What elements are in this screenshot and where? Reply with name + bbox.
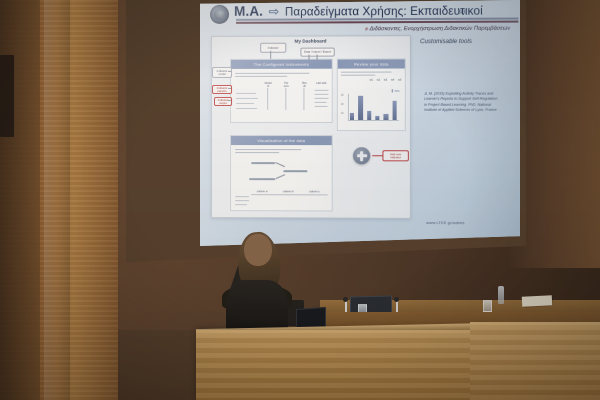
connector-line	[317, 55, 318, 60]
chart-legend-entry: w5	[397, 79, 403, 82]
slide-header: M.A. ⇨ Παραδείγματα Χρήσης: Εκπαιδευτικο…	[208, 1, 518, 33]
table-cell	[315, 94, 329, 95]
chart-bar	[392, 100, 397, 120]
panel-heading: Visualisation of the data	[231, 136, 332, 145]
projection-screen: M.A. ⇨ Παραδείγματα Χρήσης: Εκπαιδευτικο…	[200, 0, 520, 246]
connector-line	[276, 162, 285, 167]
table-cell	[235, 204, 247, 205]
coin-emblem-icon	[210, 5, 229, 24]
table-cell	[236, 108, 257, 109]
papers	[522, 295, 552, 307]
node-label	[251, 162, 275, 164]
connector-line	[372, 155, 382, 156]
chart-bar	[367, 111, 372, 120]
slide-title-rest: Παραδείγματα Χρήσης: Εκπαιδευτικοί	[285, 6, 483, 19]
chart-legend: ▌ data	[389, 90, 403, 93]
microphone-icon	[343, 297, 348, 302]
chart-y-axis	[348, 94, 349, 120]
panel-text-line	[235, 76, 287, 77]
connector-line	[308, 55, 309, 60]
callout-indicator-model: Indicator model	[212, 67, 232, 78]
chart-bar	[358, 96, 363, 120]
chart-bar	[350, 113, 355, 120]
table-column-header: Result	[297, 82, 311, 88]
panel-text-line	[341, 75, 375, 76]
node-label	[283, 170, 307, 172]
customisable-tools-heading: Customisable tools	[420, 39, 472, 45]
panel-text-line	[341, 72, 392, 73]
citation-text: Ji, M. (2015) Exploiting Activity Traces…	[424, 92, 500, 114]
callout-indicator-output: Indicator output	[214, 97, 232, 106]
table-cell	[236, 98, 258, 99]
panel-text-line	[235, 152, 279, 153]
table-cell	[315, 102, 327, 103]
podium	[196, 330, 496, 400]
panel-text-line	[235, 149, 301, 150]
chart-y-tick: 20	[341, 103, 344, 106]
subtitle-bullet-icon: ๏	[365, 26, 368, 32]
chart-legend-entry: w2	[375, 79, 381, 82]
panel-visualisation: Visualisation of the data column a colum…	[230, 135, 333, 212]
panel-heading: The Configured Instruments	[231, 60, 332, 69]
water-bottle	[498, 286, 504, 304]
connector-line	[228, 88, 231, 89]
title-rule-bottom	[236, 20, 518, 23]
table-cell	[315, 98, 329, 99]
panel-review-data: Review your data w1 w2 w3 w4 w5 30 20 10	[337, 58, 406, 131]
callout-indicator-parameters: Indicator params	[212, 85, 232, 94]
table-column-header: column a	[253, 190, 271, 193]
table-column-header: column c	[305, 190, 323, 193]
callout-data-import-export: Data / Import / Export	[300, 48, 334, 57]
slide-title-prefix: M.A.	[234, 4, 263, 19]
slide-subtitle: ๏ Διδάσκοντες, Ενορχήστρωση Διδακτικών Π…	[365, 25, 511, 34]
table-column-header: Params	[279, 82, 293, 88]
connector-line	[228, 71, 231, 72]
column-divider	[267, 88, 268, 110]
connector-line	[270, 51, 271, 59]
slide-title: M.A. ⇨ Παραδείγματα Χρήσης: Εκπαιδευτικο…	[234, 2, 483, 18]
column-divider	[285, 88, 286, 110]
connector-line	[228, 100, 231, 101]
column-divider	[303, 88, 304, 110]
table-cell	[235, 200, 249, 201]
water-glass	[483, 300, 492, 312]
table-column-header: column b	[279, 190, 297, 193]
chart-legend-entry: w3	[382, 79, 388, 82]
pillar	[44, 0, 70, 400]
table-column-header: Modelid	[261, 82, 275, 88]
callout-indicator: Indicator	[260, 43, 286, 53]
table-cell	[236, 103, 254, 104]
arrow-right-icon: ⇨	[267, 5, 282, 19]
table-cell	[315, 106, 328, 107]
table-column-header: Last upd.	[314, 82, 330, 85]
dashboard-card: My Dashboard The Configured Instruments …	[211, 35, 411, 219]
slide-subtitle-text: Διδάσκοντες, Ενορχήστρωση Διδακτικών Παρ…	[370, 26, 511, 33]
slide-page-indicator: 3/3	[458, 10, 465, 16]
plus-circle-icon[interactable]	[353, 147, 370, 164]
panel-text-line	[235, 73, 309, 74]
table-rule	[251, 194, 328, 195]
source-url: www.LTEE.gr/admts	[426, 220, 464, 225]
panel-configured-instruments: The Configured Instruments Modelid Param…	[230, 59, 333, 123]
podium-side	[470, 322, 600, 400]
dashboard-title: My Dashboard	[212, 38, 410, 44]
panel-heading: Review your data	[338, 59, 405, 68]
lecture-hall-photo: M.A. ⇨ Παραδείγματα Χρήσης: Εκπαιδευτικο…	[0, 0, 600, 400]
chart-legend-entry: w4	[390, 79, 396, 82]
table-cell	[236, 93, 256, 94]
wall-fixture	[0, 55, 14, 137]
chart-legend-entry: w1	[368, 79, 374, 82]
chart-y-tick: 30	[341, 94, 344, 97]
connector-line	[276, 174, 285, 179]
table-cell	[235, 196, 249, 197]
microphone-icon	[394, 297, 399, 302]
presenter-head	[244, 234, 272, 266]
table-cell	[315, 90, 329, 91]
bar-chart	[348, 94, 399, 120]
chart-y-tick: 10	[341, 112, 344, 115]
chart-x-axis	[348, 120, 399, 121]
presentation-slide: M.A. ⇨ Παραδείγματα Χρήσης: Εκπαιδευτικο…	[200, 0, 520, 246]
callout-add-new-indicator: Add new indicator	[382, 150, 408, 161]
node-label	[249, 178, 275, 180]
